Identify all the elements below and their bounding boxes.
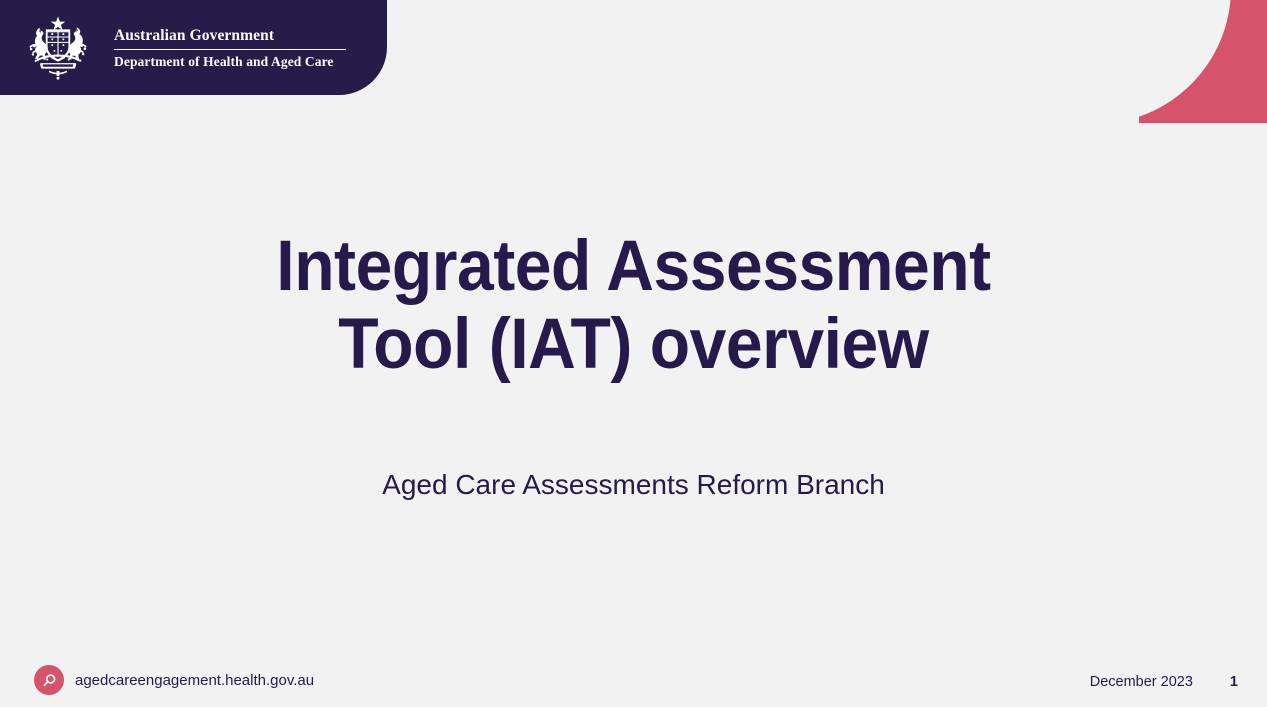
footer-meta: December 2023 1 [1090,675,1238,690]
corner-decoration [1139,0,1267,123]
wordmark-divider [114,49,346,50]
page-number: 1 [1230,675,1238,690]
footer-url-text[interactable]: agedcareengagement.health.gov.au [75,673,314,688]
australian-coat-of-arms-icon [14,15,102,81]
slide-canvas: Australian Government Department of Heal… [0,0,1267,707]
government-wordmark: Australian Government Department of Heal… [114,24,346,71]
government-name: Australian Government [114,26,346,45]
slide-title-line-2: Tool (IAT) overview [184,306,1083,384]
department-name: Department of Health and Aged Care [114,54,346,71]
corner-decoration-arc [1139,0,1231,123]
government-branding-header: Australian Government Department of Heal… [0,0,387,95]
magnifier-icon [34,665,64,695]
slide-title: Integrated Assessment Tool (IAT) overvie… [184,228,1083,384]
footer-date: December 2023 [1090,675,1193,690]
slide-subtitle: Aged Care Assessments Reform Branch [150,468,1117,502]
slide-title-line-1: Integrated Assessment [184,228,1083,306]
footer-website[interactable]: agedcareengagement.health.gov.au [34,665,314,695]
